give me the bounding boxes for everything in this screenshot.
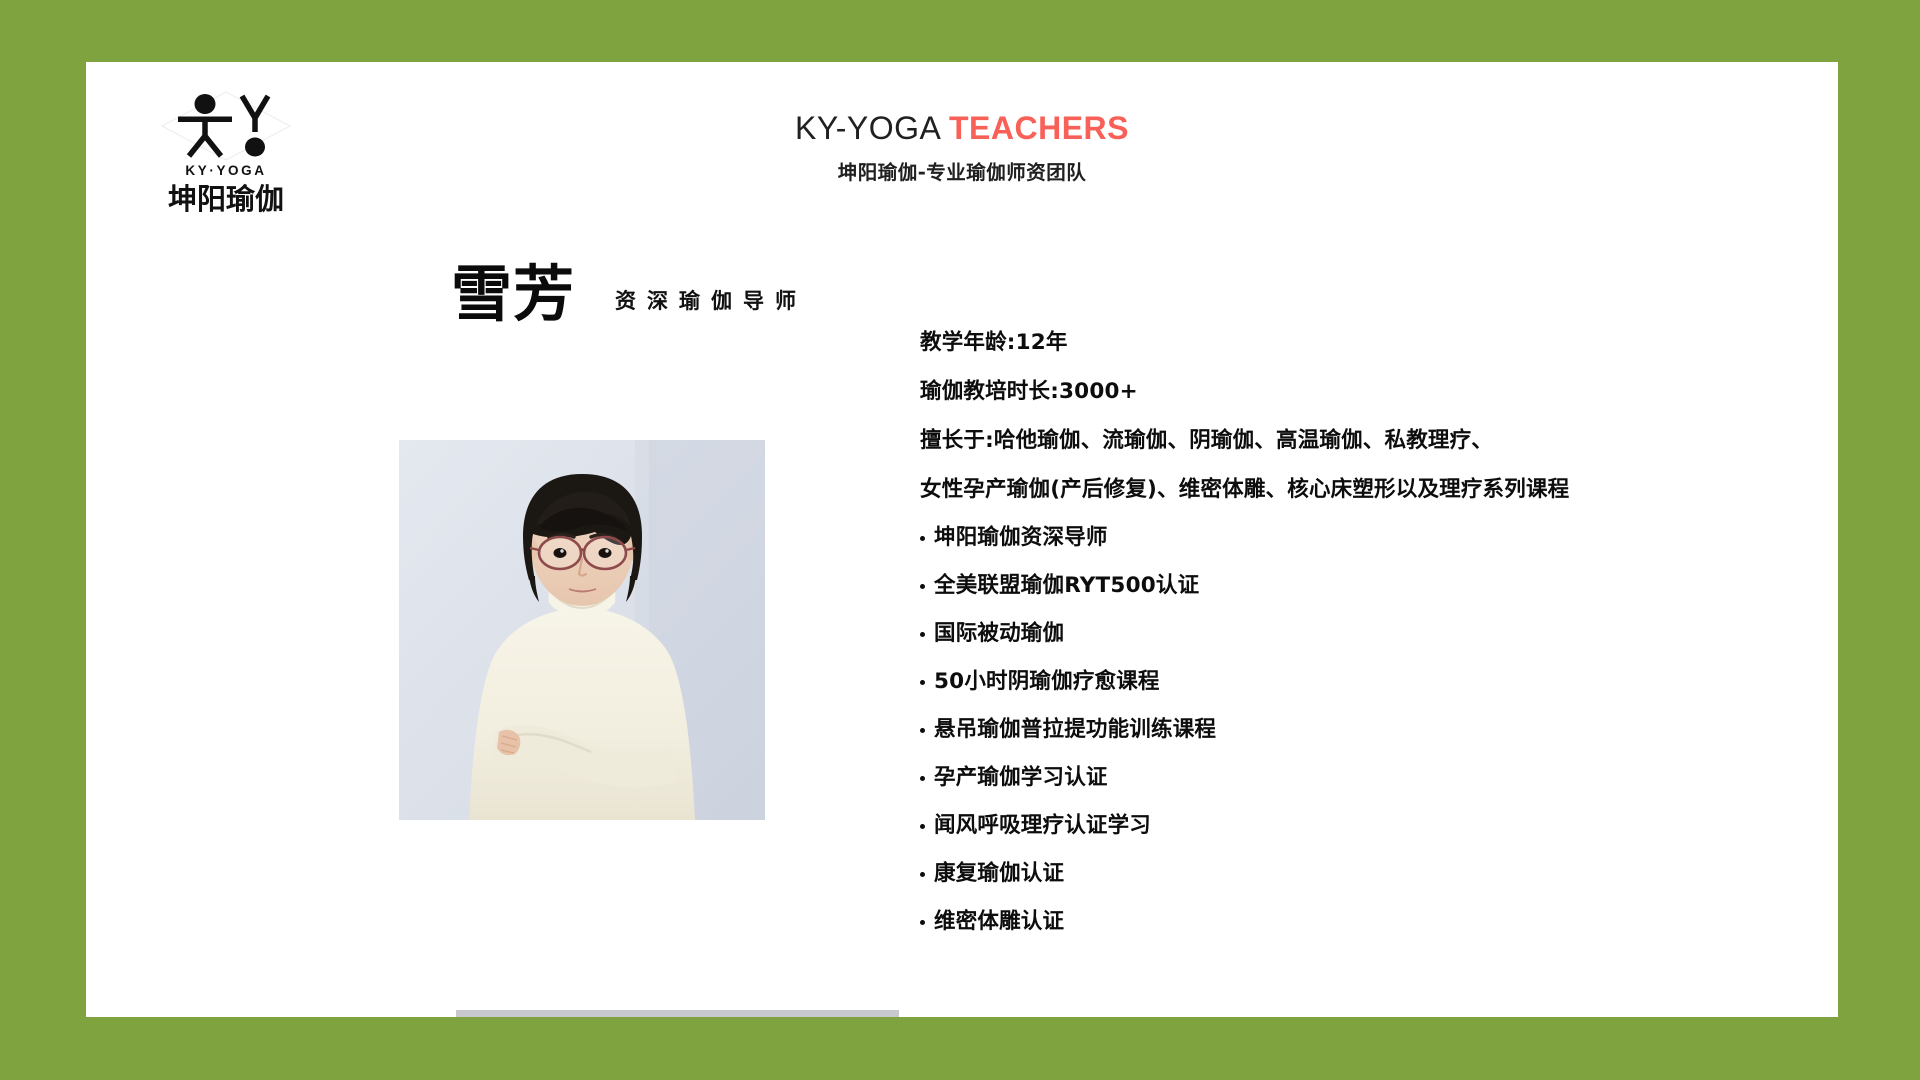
bullet-dot-icon [920, 584, 925, 589]
list-item: 悬吊瑜伽普拉提功能训练课程 [920, 706, 1800, 754]
teacher-bio-block: 教学年龄:12年 瑜伽教培时长:3000+ 擅长于:哈他瑜伽、流瑜伽、阴瑜伽、高… [920, 318, 1800, 946]
bio-line: 瑜伽教培时长:3000+ [920, 367, 1800, 416]
title-accent-part: TEACHERS [949, 110, 1129, 146]
list-item: 孕产瑜伽学习认证 [920, 754, 1800, 802]
title-plain-part: KY-YOGA [795, 110, 949, 146]
teacher-name: 雪芳 [451, 264, 575, 325]
header-block: KY-YOGA TEACHERS 坤阳瑜伽-专业瑜伽师资团队 [86, 110, 1838, 185]
list-item-label: 全美联盟瑜伽RYT500认证 [934, 562, 1199, 610]
list-item-label: 闻风呼吸理疗认证学习 [934, 802, 1151, 850]
teacher-portrait-photo [399, 440, 765, 820]
teacher-role: 资深瑜伽导师 [615, 285, 807, 315]
bio-line: 女性孕产瑜伽(产后修复)、维密体雕、核心床塑形以及理疗系列课程 [920, 465, 1800, 514]
page-title: KY-YOGA TEACHERS [86, 110, 1838, 147]
bullet-dot-icon [920, 536, 925, 541]
bullet-dot-icon [920, 728, 925, 733]
list-item: 50小时阴瑜伽疗愈课程 [920, 658, 1800, 706]
bullet-dot-icon [920, 920, 925, 925]
bio-line: 教学年龄:12年 [920, 318, 1800, 367]
content-card: KY·YOGA 坤阳瑜伽 KY-YOGA TEACHERS 坤阳瑜伽-专业瑜伽师… [86, 62, 1838, 1017]
logo-chinese-text: 坤阳瑜伽 [141, 181, 311, 217]
list-item-label: 悬吊瑜伽普拉提功能训练课程 [934, 706, 1216, 754]
bullet-dot-icon [920, 872, 925, 877]
bullet-dot-icon [920, 680, 925, 685]
bio-line: 擅长于:哈他瑜伽、流瑜伽、阴瑜伽、高温瑜伽、私教理疗、 [920, 416, 1800, 465]
list-item: 康复瑜伽认证 [920, 850, 1800, 898]
list-item: 坤阳瑜伽资深导师 [920, 514, 1800, 562]
bottom-divider-strip [456, 1010, 899, 1017]
bullet-dot-icon [920, 776, 925, 781]
bullet-dot-icon [920, 632, 925, 637]
list-item-label: 维密体雕认证 [934, 898, 1064, 946]
page-subtitle: 坤阳瑜伽-专业瑜伽师资团队 [86, 156, 1838, 185]
list-item-label: 康复瑜伽认证 [934, 850, 1064, 898]
list-item-label: 孕产瑜伽学习认证 [934, 754, 1108, 802]
teacher-name-row: 雪芳 资深瑜伽导师 [451, 264, 807, 325]
list-item: 维密体雕认证 [920, 898, 1800, 946]
certification-list: 坤阳瑜伽资深导师 全美联盟瑜伽RYT500认证 国际被动瑜伽 50小时阴瑜伽疗愈… [920, 514, 1800, 946]
list-item-label: 坤阳瑜伽资深导师 [934, 514, 1108, 562]
bullet-dot-icon [920, 824, 925, 829]
list-item: 闻风呼吸理疗认证学习 [920, 802, 1800, 850]
list-item-label: 国际被动瑜伽 [934, 610, 1064, 658]
list-item-label: 50小时阴瑜伽疗愈课程 [934, 658, 1160, 706]
list-item: 全美联盟瑜伽RYT500认证 [920, 562, 1800, 610]
slide-page: KY·YOGA 坤阳瑜伽 KY-YOGA TEACHERS 坤阳瑜伽-专业瑜伽师… [0, 0, 1920, 1080]
list-item: 国际被动瑜伽 [920, 610, 1800, 658]
